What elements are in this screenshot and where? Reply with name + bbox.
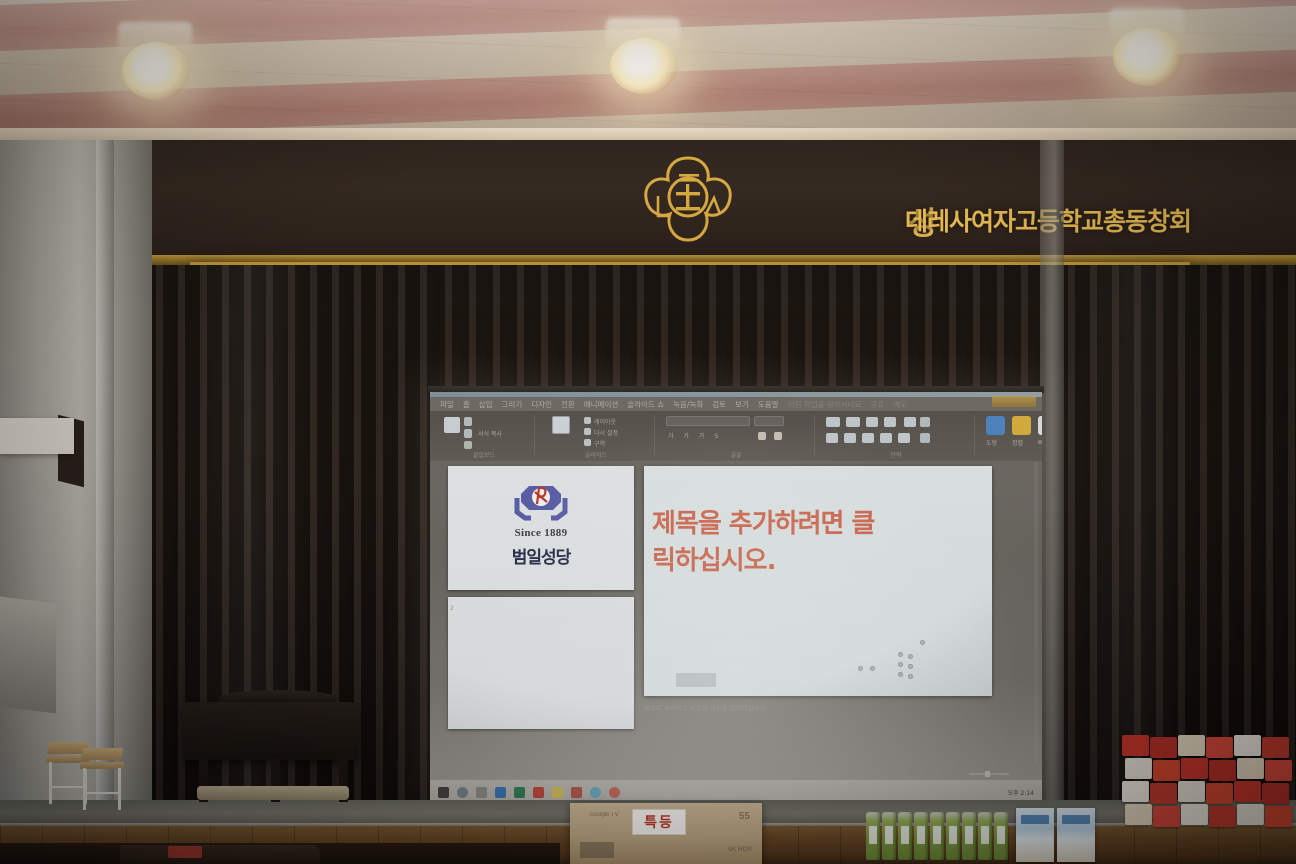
bottle [946, 812, 960, 860]
tab-transitions[interactable]: 전환 [561, 399, 575, 410]
status-right: 슬라이드 노트 메모 ▣ ▥ ▤ ▷ 54% [841, 769, 1032, 779]
ceiling-light-2 [610, 38, 678, 94]
ribbon-separator [534, 415, 535, 455]
tab-home[interactable]: 홈 [463, 399, 470, 410]
snack-gift-set [1178, 781, 1205, 802]
view-reading-icon[interactable]: ▤ [939, 770, 945, 778]
text-shadow-icon[interactable] [758, 432, 766, 440]
snack-gift-set [1234, 781, 1261, 802]
ribbon-separator [654, 415, 655, 455]
powerpoint-icon[interactable] [533, 787, 544, 798]
ribbon-group-label-font: 글꼴 [662, 450, 810, 459]
snack-gift-set [1125, 758, 1152, 779]
snack-gift-set [1265, 760, 1292, 781]
ribbon-group-label-paragraph: 단락 [822, 450, 970, 459]
tv-feature-label: 4K HDR [728, 846, 752, 853]
ceiling [0, 0, 1296, 150]
share-highlight-button[interactable] [992, 396, 1036, 407]
snack-gift-set [1209, 806, 1236, 827]
ribbon-group-label-clipboard: 클립보드 [438, 450, 530, 459]
view-slideshow-icon[interactable]: ▷ [955, 770, 960, 778]
status-left: 슬라이드 1/2 한국어 접근성: 계속 진행 가능 [438, 769, 575, 779]
slide-content-ghost [676, 673, 716, 687]
auditorium-scene: 성 데레사여자고등학교총동창회 ❦ ❦ ❦ ❦ [0, 0, 1296, 864]
logo-since-text: Since 1889 [448, 527, 634, 539]
tv-prize-box: Google TV 55 4K HDR 특등 [570, 803, 762, 864]
handle[interactable] [858, 666, 863, 671]
paste-label[interactable]: 서식 복사 [478, 429, 502, 438]
snack-gift-set [1181, 758, 1208, 779]
line-spacing-icon[interactable] [904, 417, 916, 427]
quick-styles-icon[interactable] [1038, 416, 1042, 435]
zoom-level[interactable]: 54% [1018, 770, 1032, 778]
pillar-edge-highlight [96, 140, 114, 800]
powerpoint-ribbon[interactable]: 서식 복사 클립보드 레이아웃 다시 설정 구역 슬라이드 [430, 411, 1042, 461]
tab-record[interactable]: 녹음/녹화 [673, 399, 703, 410]
ribbon-group-drawing[interactable]: 도형 정렬 빠른 스타일 도형 채우기 도형 윤곽선 도형 효과 그리기 [982, 413, 1042, 459]
piano-body [183, 702, 359, 760]
handle[interactable] [870, 666, 875, 671]
new-slide-icon[interactable] [552, 416, 570, 434]
grand-piano [175, 686, 375, 806]
columns-icon[interactable] [898, 433, 910, 443]
ribbon-group-slides[interactable]: 레이아웃 다시 설정 구역 슬라이드 [542, 413, 650, 459]
align-left-icon[interactable] [826, 433, 838, 443]
snack-gift-set [1150, 783, 1177, 804]
arrange-icon[interactable] [1012, 416, 1031, 435]
snack-gift-set [1178, 735, 1205, 756]
zoom-slider-knob[interactable] [985, 771, 990, 777]
rotate-handle[interactable] [920, 640, 925, 645]
selection-handles[interactable] [898, 652, 982, 686]
right-wall-strip [1040, 140, 1064, 800]
view-normal-icon[interactable]: ▣ [909, 770, 915, 778]
school-crest-emblem [636, 152, 740, 246]
numbering-icon[interactable] [846, 417, 860, 427]
cut-icon[interactable] [464, 417, 472, 426]
snack-gift-set [1234, 735, 1261, 756]
search-icon[interactable] [457, 787, 468, 798]
powerpoint-ribbon-tabs[interactable]: 파일 홈 삽입 그리기 디자인 전환 애니메이션 슬라이드 쇼 녹음/녹화 검토… [440, 397, 1042, 411]
chair-leg [118, 768, 121, 810]
powerpoint-workspace: 1 [430, 462, 1042, 762]
ribbon-group-label-slides: 슬라이드 [542, 450, 650, 459]
character-spacing-icon[interactable] [774, 432, 782, 440]
foreground-package-label [168, 846, 202, 858]
bottle [994, 812, 1008, 860]
convert-smartart-icon[interactable] [920, 433, 930, 443]
slide-thumbnail-pane[interactable]: 1 [448, 466, 634, 729]
snack-gift-set [1209, 760, 1236, 781]
chair-leg [83, 768, 86, 810]
reset-label[interactable]: 다시 설정 [594, 428, 618, 437]
snack-gift-set [1206, 783, 1233, 804]
piano-platform [197, 786, 349, 800]
paste-icon[interactable] [444, 417, 460, 433]
excel-icon[interactable] [514, 787, 525, 798]
shapes-label[interactable]: 도형 [986, 438, 997, 447]
snack-gift-set [1150, 737, 1177, 758]
reset-icon[interactable] [584, 428, 591, 435]
powerpoint-window: 파일 홈 삽입 그리기 디자인 전환 애니메이션 슬라이드 쇼 녹음/녹화 검토… [430, 392, 1042, 804]
font-size-select[interactable] [754, 416, 784, 426]
section-icon[interactable] [584, 439, 591, 446]
chair-back [81, 748, 123, 760]
notes-toggle[interactable]: 슬라이드 노트 [841, 769, 879, 779]
bottle [866, 812, 880, 860]
olive-oil-gift-bottles [866, 808, 1012, 860]
bottle [930, 812, 944, 860]
parish-logo-block: Since 1889 범일성당 [448, 478, 634, 568]
bottle [962, 812, 976, 860]
tab-help[interactable]: 도움말 [758, 399, 779, 410]
share-button[interactable]: 공유 [870, 399, 884, 410]
ribbon-group-label-drawing: 그리기 [982, 450, 1042, 459]
bottle [898, 812, 912, 860]
accessibility-status[interactable]: 접근성: 계속 진행 가능 [512, 769, 574, 779]
projection-screen: 파일 홈 삽입 그리기 디자인 전환 애니메이션 슬라이드 쇼 녹음/녹화 검토… [430, 392, 1042, 804]
handle[interactable] [908, 654, 913, 659]
ribbon-separator [814, 415, 815, 455]
tab-slideshow[interactable]: 슬라이드 쇼 [627, 399, 664, 410]
prize-rank-text: 특등 [644, 812, 674, 832]
foreground-package [120, 845, 320, 864]
tab-file[interactable]: 파일 [440, 399, 454, 410]
tab-review[interactable]: 검토 [712, 399, 726, 410]
chair-rail [83, 792, 121, 794]
handle[interactable] [898, 662, 903, 667]
snack-gift-set [1153, 806, 1180, 827]
tab-insert[interactable]: 삽입 [479, 399, 493, 410]
slide-thumbnail-1[interactable]: Since 1889 범일성당 [448, 466, 634, 590]
ribbon-group-paragraph[interactable]: 단락 [822, 413, 970, 459]
snack-gift-set [1125, 804, 1152, 825]
edge-icon[interactable] [590, 787, 601, 798]
layout-label[interactable]: 레이아웃 [594, 417, 616, 426]
handle[interactable] [908, 674, 913, 679]
tab-animations[interactable]: 애니메이션 [584, 399, 619, 410]
vertical-scrollbar[interactable] [1034, 462, 1038, 762]
snack-gift-set [1122, 735, 1149, 756]
bottle [914, 812, 928, 860]
text-direction-icon[interactable] [920, 417, 930, 427]
snack-gift-set [1262, 783, 1289, 804]
shapes-icon[interactable] [986, 416, 1005, 435]
logo-parish-name: 범일성당 [448, 543, 634, 568]
powerpoint-status-bar: 슬라이드 1/2 한국어 접근성: 계속 진행 가능 슬라이드 노트 메모 ▣ … [430, 768, 1042, 780]
bottle [978, 812, 992, 860]
ribbon-group-font[interactable]: 가 가 가 S 글꼴 [662, 413, 810, 459]
snack-gift-set [1206, 737, 1233, 758]
stacked-snack-gift-sets [1122, 735, 1294, 833]
bottle [882, 812, 896, 860]
taskbar-clock[interactable]: 오후 2:14 [1008, 788, 1034, 797]
title-placeholder[interactable]: 제목을 추가하려면 클 릭하십시오. [652, 506, 984, 580]
snack-gift-set [1265, 806, 1292, 827]
slide-editing-canvas[interactable]: 제목을 추가하려면 클 릭하십시오. [644, 466, 992, 696]
snack-gift-set [1153, 760, 1180, 781]
section-label[interactable]: 구역 [594, 439, 605, 448]
layout-icon[interactable] [584, 417, 591, 424]
tell-me-search[interactable]: 어떤 작업을 원하시나요 [788, 399, 862, 410]
notes-placeholder[interactable]: 텍스트 슬라이드 노트의 내용을 입력하십시오 [644, 702, 766, 712]
chi-rho-church-logo-icon [509, 478, 573, 524]
ribbon-separator [974, 415, 975, 455]
zoom-slider[interactable] [969, 773, 1009, 775]
tab-draw[interactable]: 그리기 [502, 399, 523, 410]
file-explorer-icon[interactable] [495, 787, 506, 798]
title-placeholder-line-2[interactable]: 릭하십시오. [652, 543, 984, 580]
comments-button[interactable]: 메모 [893, 399, 907, 410]
windows-start-icon[interactable] [438, 787, 449, 798]
tv-box-label-patch [580, 842, 614, 858]
quick-styles-label[interactable]: 빠른 스타일 [1038, 438, 1042, 447]
title-placeholder-line-1[interactable]: 제목을 추가하려면 클 [652, 506, 984, 543]
align-right-icon[interactable] [862, 433, 874, 443]
browser-icon[interactable] [609, 787, 620, 798]
task-view-icon[interactable] [476, 787, 487, 798]
notepad-icon[interactable] [552, 787, 563, 798]
justify-icon[interactable] [880, 433, 892, 443]
ceiling-light-1 [122, 42, 190, 100]
wall-panel-lower [0, 597, 56, 714]
folding-chairs [46, 742, 156, 812]
increase-indent-icon[interactable] [884, 417, 896, 427]
tv-size-label: 55 [739, 811, 750, 822]
snack-gift-set [1237, 804, 1264, 825]
view-sorter-icon[interactable]: ▥ [924, 770, 930, 778]
font-style-buttons[interactable]: 가 가 가 S [668, 431, 722, 440]
prize-rank-sticker: 특등 [632, 809, 686, 835]
tab-design[interactable]: 디자인 [531, 399, 552, 410]
gift-box [1016, 808, 1054, 862]
ribbon-group-clipboard[interactable]: 서식 복사 클립보드 [438, 413, 530, 459]
snack-gift-set [1237, 758, 1264, 779]
snack-gift-set [1181, 804, 1208, 825]
slide-counter: 슬라이드 1/2 [438, 769, 474, 779]
language-indicator[interactable]: 한국어 [484, 769, 502, 779]
thumbnail-2-number: 2 [450, 605, 454, 612]
font-family-select[interactable] [666, 416, 750, 426]
handle[interactable] [898, 672, 903, 677]
gift-box [1057, 808, 1095, 862]
handle[interactable] [908, 664, 913, 669]
align-center-icon[interactable] [844, 433, 856, 443]
comments-toggle[interactable]: 메모 [888, 769, 900, 779]
detergent-gift-boxes [1016, 808, 1096, 862]
bullets-icon[interactable] [826, 417, 840, 427]
arrange-label[interactable]: 정렬 [1012, 438, 1023, 447]
tv-brand-label: Google TV [590, 812, 619, 818]
slide-thumbnail-2[interactable] [448, 597, 634, 729]
snack-gift-set [1122, 781, 1149, 802]
format-painter-icon[interactable] [464, 441, 472, 449]
chair-leg [49, 762, 52, 804]
copy-icon[interactable] [464, 429, 472, 438]
tab-view[interactable]: 보기 [735, 399, 749, 410]
media-player-icon[interactable] [571, 787, 582, 798]
decrease-indent-icon[interactable] [866, 417, 878, 427]
handle[interactable] [898, 652, 903, 657]
wall-panel [0, 418, 74, 454]
chair [80, 748, 124, 810]
ceiling-light-3 [1113, 28, 1183, 86]
snack-gift-set [1262, 737, 1289, 758]
